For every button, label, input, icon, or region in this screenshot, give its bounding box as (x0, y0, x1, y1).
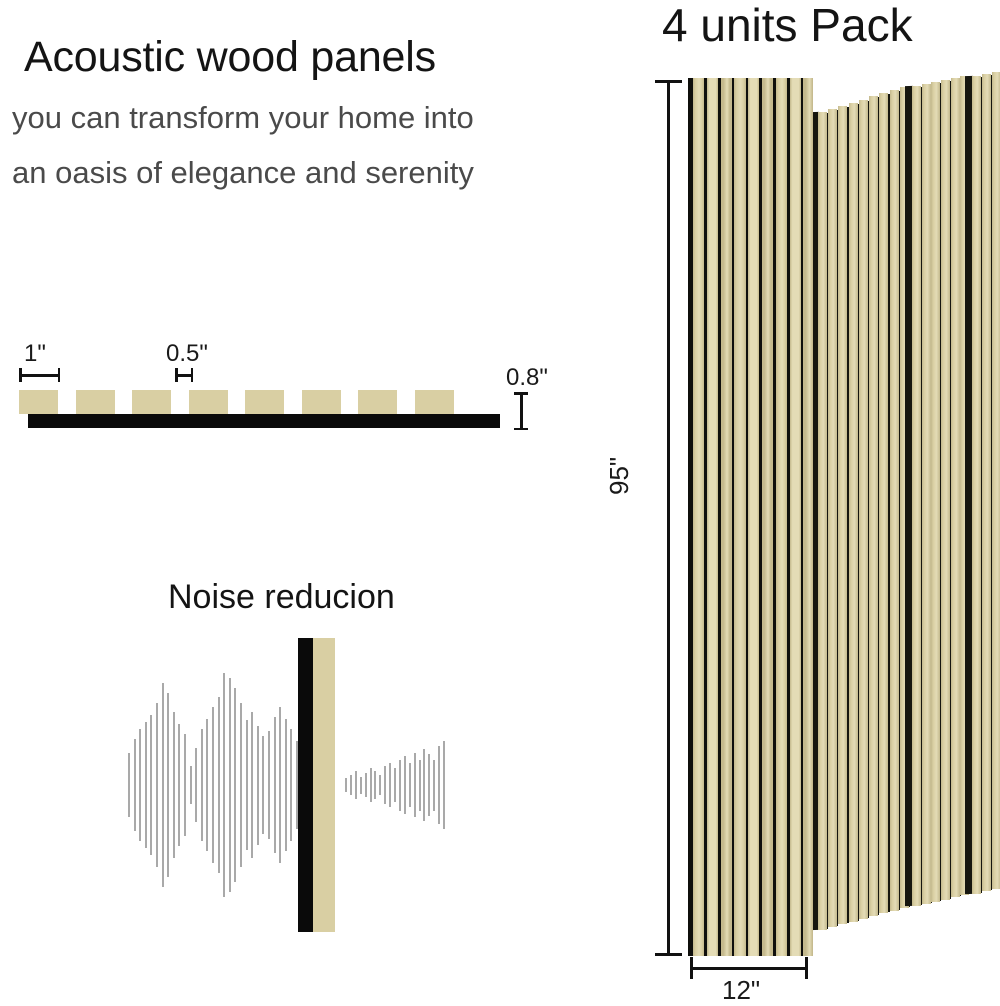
cross-section-backing-board (28, 414, 500, 428)
front-panel-slat (721, 78, 732, 956)
waveform-bar (134, 739, 136, 831)
front-panel-slat (776, 78, 787, 956)
front-panel-slat (693, 78, 704, 956)
waveform-bar (184, 734, 186, 836)
background-panel-slat (992, 72, 1000, 889)
front-panel-slat (762, 78, 773, 956)
waveform-bar (285, 719, 287, 852)
background-panel-slat (972, 76, 981, 894)
front-panel-slat (790, 78, 801, 956)
waveform-bar (190, 766, 192, 803)
background-panel-slat (818, 112, 827, 930)
waveform-bar (246, 720, 248, 849)
waveform-bar (150, 715, 152, 854)
gap-width-label: 0.5" (166, 340, 208, 368)
background-panel-slat (941, 80, 950, 900)
waveform-bar (290, 729, 292, 841)
cross-section-slat (415, 390, 454, 414)
waveform-bar (223, 673, 225, 897)
waveform-bar (234, 688, 236, 882)
cross-section-slat (358, 390, 397, 414)
height-dimension-line (667, 80, 670, 956)
subtitle-line-2: an oasis of elegance and serenity (12, 155, 474, 191)
cross-section-slat (302, 390, 341, 414)
waveform-bar (156, 703, 158, 866)
waveform-bar (409, 763, 411, 807)
width-dimension-line (690, 967, 808, 970)
waveform-bar (384, 766, 386, 803)
waveform-bar (279, 707, 281, 863)
thickness-caliper (514, 392, 528, 430)
height-tick-bottom (655, 953, 682, 956)
waveform-bar (128, 753, 130, 818)
background-panel-slat (982, 74, 991, 891)
waveform-bar (370, 768, 372, 802)
waveform-bar (419, 760, 421, 811)
height-tick-top (655, 80, 682, 83)
width-tick-right (805, 957, 808, 979)
background-panel-slat (828, 109, 837, 927)
cross-section-slat (189, 390, 228, 414)
cross-section-slat (19, 390, 58, 414)
front-panel (688, 78, 813, 956)
background-panel-slat (859, 100, 868, 919)
panel-height-label: 95" (604, 457, 635, 495)
waveform-bar (399, 760, 401, 811)
waveform-bar (162, 683, 164, 887)
waveform-bar (414, 753, 416, 818)
waveform-bar (206, 719, 208, 852)
background-panel-slat (922, 84, 931, 904)
waveform-bar (350, 775, 352, 795)
background-panel-slat (849, 103, 858, 922)
waveform-bar (394, 768, 396, 802)
background-panel-slat (879, 93, 888, 913)
waveform-bar (423, 749, 425, 820)
noise-panel-backing-layer (298, 638, 313, 932)
waveform-bar (178, 724, 180, 846)
cross-section-slat (245, 390, 284, 414)
waveform-bar (438, 746, 440, 824)
background-panel-slat (931, 82, 940, 902)
background-panel-slat (890, 90, 899, 910)
cross-section-diagram: 1" 0.5" 0.8" (0, 330, 580, 445)
waveform-bar (365, 773, 367, 797)
noise-reduction-title: Noise reducion (168, 578, 395, 617)
slat-width-label: 1" (24, 340, 46, 368)
waveform-bar (145, 722, 147, 848)
waveform-bar (404, 756, 406, 814)
waveform-bar (139, 729, 141, 841)
waveform-bar (173, 712, 175, 858)
background-panel-slat (869, 96, 878, 916)
waveform-bar (345, 778, 347, 792)
cross-section-slat (132, 390, 171, 414)
front-panel-slat (707, 78, 718, 956)
waveform-bar (428, 754, 430, 815)
waveform-bar (433, 760, 435, 811)
waveform-bar (229, 678, 231, 892)
waveform-bar (201, 729, 203, 841)
waveform-bar (268, 731, 270, 840)
slat-width-caliper (19, 368, 60, 382)
waveform-bar (379, 775, 381, 795)
background-panel-slat (951, 78, 960, 897)
background-panel-slat (838, 106, 847, 925)
background-panel-slat (912, 86, 921, 906)
waveform-bar (212, 707, 214, 863)
waveform-bar (355, 771, 357, 798)
waveform-bar (262, 736, 264, 835)
waveform-bar (360, 777, 362, 794)
waveform-bar (167, 693, 169, 877)
page-title: Acoustic wood panels (24, 33, 436, 82)
noise-panel-wood-layer (313, 638, 335, 932)
front-panel-slat (748, 78, 759, 956)
infographic-canvas: Acoustic wood panels you can transform y… (0, 0, 1000, 1000)
waveform-bar (218, 697, 220, 874)
panel-width-label: 12" (722, 975, 760, 1006)
waveform-bar (240, 703, 242, 866)
waveform-bar (195, 748, 197, 823)
gap-width-caliper (175, 368, 193, 382)
waveform-bar (251, 712, 253, 858)
waveform-bar (443, 741, 445, 829)
waveform-bar (274, 717, 276, 853)
front-panel-slat (734, 78, 745, 956)
waveform-bar (389, 763, 391, 807)
thickness-label: 0.8" (506, 364, 548, 392)
waveform-bar (257, 726, 259, 845)
cross-section-slat (76, 390, 115, 414)
front-panel-slat (803, 78, 813, 956)
waveform-bar (374, 771, 376, 798)
width-tick-left (690, 957, 693, 979)
subtitle-line-1: you can transform your home into (12, 100, 474, 136)
